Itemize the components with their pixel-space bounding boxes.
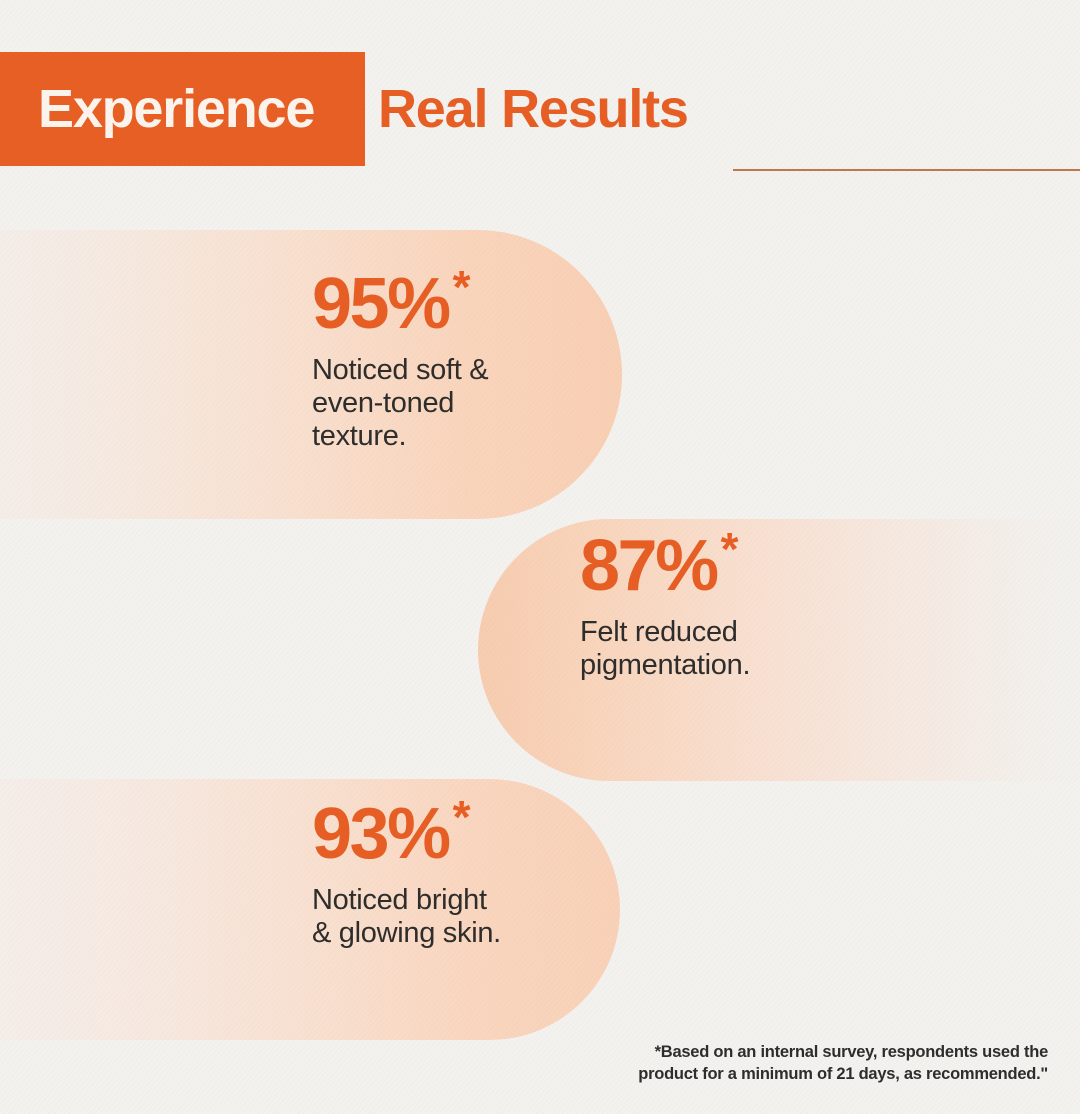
- stat-capsule-1: [0, 230, 622, 519]
- asterisk-icon-1: *: [453, 264, 468, 310]
- title-highlight-label: Experience: [0, 82, 314, 136]
- stat-capsule-2: [478, 519, 1080, 781]
- footnote-disclaimer: *Based on an internal survey, respondent…: [528, 1042, 1048, 1086]
- asterisk-icon-3: *: [453, 794, 468, 840]
- stat-block-1: 95% * Noticed soft & even-toned texture.: [312, 268, 488, 453]
- horizontal-rule-icon: [733, 169, 1080, 171]
- stat-label-2: Felt reduced pigmentation.: [580, 616, 750, 682]
- stat-value-2: 87% *: [580, 530, 750, 602]
- title-accent-label: Real Results: [378, 52, 688, 166]
- stat-block-2: 87% * Felt reduced pigmentation.: [580, 530, 750, 682]
- stat-value-number-3: 93%: [312, 798, 449, 870]
- stat-block-3: 93% * Noticed bright & glowing skin.: [312, 798, 501, 950]
- stat-value-1: 95% *: [312, 268, 488, 340]
- stat-capsule-3: [0, 779, 620, 1040]
- asterisk-icon-2: *: [721, 526, 736, 572]
- stat-label-3: Noticed bright & glowing skin.: [312, 884, 501, 950]
- stat-label-1: Noticed soft & even-toned texture.: [312, 354, 488, 453]
- stat-value-number-1: 95%: [312, 268, 449, 340]
- stat-value-number-2: 87%: [580, 530, 717, 602]
- page-header: Experience Real Results: [0, 52, 1080, 166]
- title-highlight-box: Experience: [0, 52, 365, 166]
- stat-value-3: 93% *: [312, 798, 501, 870]
